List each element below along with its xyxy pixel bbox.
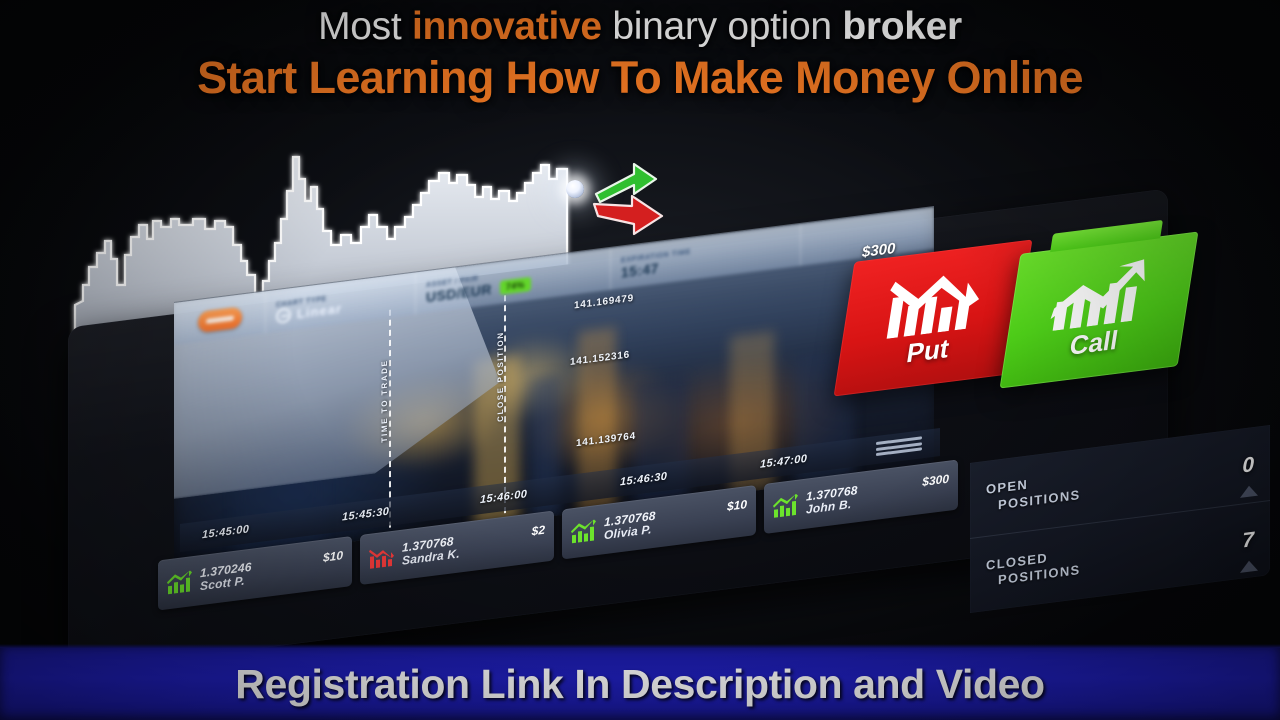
broker-logo-pill: [198, 306, 242, 333]
hamburger-icon[interactable]: [876, 436, 922, 456]
payout-badge: 74%: [500, 277, 531, 295]
open-positions-count: 0: [1242, 453, 1254, 478]
trend-up-icon: [571, 519, 597, 544]
time-tick: 15:45:30: [342, 506, 389, 524]
time-tick: 15:45:00: [202, 523, 249, 541]
promo-stage: TIME TO TRADE CLOSE POSITION 141.169479 …: [0, 0, 1280, 720]
page-title: Most innovative binary option broker: [0, 4, 1280, 50]
expand-up-icon[interactable]: [1240, 560, 1258, 573]
registration-banner-text: Registration Link In Description and Vid…: [235, 661, 1044, 708]
headline-block: Most innovative binary option broker Sta…: [0, 0, 1280, 135]
chart-down-icon: [883, 263, 989, 338]
banner-top-edge: [0, 644, 1280, 648]
chart-vertical-label-close-position: CLOSE POSITION: [496, 331, 505, 423]
trend-up-icon: [773, 494, 799, 519]
page-subtitle: Start Learning How To Make Money Online: [0, 53, 1280, 103]
chart-up-icon: [1049, 255, 1155, 330]
expand-up-icon[interactable]: [1240, 485, 1258, 498]
trading-platform: TIME TO TRADE CLOSE POSITION 141.169479 …: [62, 248, 1212, 608]
call-button[interactable]: Call: [1000, 231, 1199, 388]
chart-vertical-label-time-to-trade: TIME TO TRADE: [380, 359, 389, 443]
registration-banner[interactable]: Registration Link In Description and Vid…: [0, 648, 1280, 720]
time-tick: 15:46:30: [620, 470, 667, 488]
time-tick: 15:47:00: [760, 453, 807, 471]
trend-down-icon: [369, 545, 395, 570]
headline-bold: broker: [842, 5, 962, 48]
headline-part-2: binary option: [602, 5, 843, 48]
closed-positions-count: 7: [1242, 528, 1254, 553]
put-button-label: Put: [905, 332, 952, 369]
closed-positions-label: CLOSED POSITIONS: [986, 546, 1081, 590]
call-button-label: Call: [1068, 324, 1121, 362]
price-marker-dot: [566, 180, 584, 198]
headline-emphasis: innovative: [412, 5, 602, 48]
down-arrow-icon: [594, 196, 662, 234]
linear-chart-icon: [276, 307, 291, 324]
open-positions-label: OPEN POSITIONS: [986, 470, 1081, 514]
up-arrow-icon: [596, 164, 656, 202]
trend-up-icon: [167, 570, 193, 595]
trade-direction-arrows: [590, 160, 680, 240]
time-tick: 15:46:00: [480, 488, 527, 506]
headline-part-1: Most: [318, 5, 412, 48]
